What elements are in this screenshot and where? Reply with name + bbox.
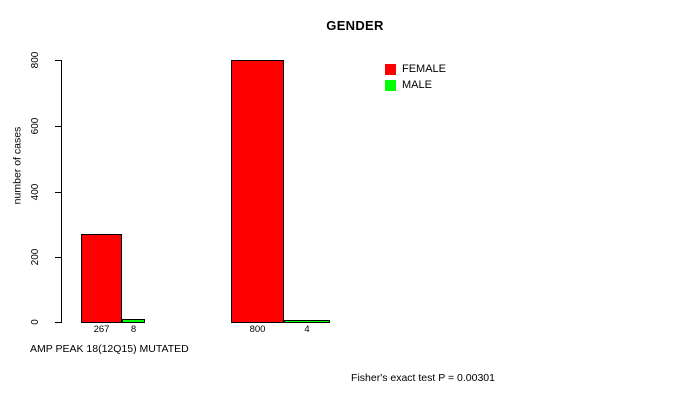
y-tick-label-600-wrap: 600	[28, 106, 44, 146]
y-tick-label-400-wrap: 400	[28, 172, 44, 212]
legend-item-male[interactable]: MALE	[385, 78, 446, 92]
bar-label-group2-female: 800	[231, 325, 284, 335]
y-tick-0	[55, 322, 61, 323]
bar-group1-male[interactable]	[122, 319, 145, 323]
legend-label-male: MALE	[402, 80, 432, 91]
footer-note-wrap: Fisher's exact test P = 0.00301	[0, 372, 690, 384]
bar-group2-female[interactable]	[231, 60, 284, 323]
y-axis-title: number of cases	[13, 116, 24, 216]
y-tick-800	[55, 60, 61, 61]
bar-chart: GENDER 800 600 400 200 0 number of cases…	[0, 0, 690, 400]
bar-label-group1-female: 267	[81, 325, 122, 335]
legend: FEMALE MALE	[385, 62, 446, 94]
y-tick-label-800: 800	[31, 52, 41, 69]
bar-group2-male[interactable]	[284, 320, 330, 323]
legend-swatch-female-icon	[385, 64, 396, 75]
y-tick-label-400: 400	[31, 184, 41, 201]
y-tick-400	[55, 192, 61, 193]
y-tick-label-0: 0	[31, 319, 41, 325]
bar-label-group1-male: 8	[122, 325, 145, 335]
bar-label-group2-male: 4	[284, 325, 330, 335]
legend-label-female: FEMALE	[402, 64, 446, 75]
y-tick-label-800-wrap: 800	[28, 40, 44, 80]
y-tick-200	[55, 257, 61, 258]
y-tick-label-600: 600	[31, 118, 41, 135]
legend-item-female[interactable]: FEMALE	[385, 62, 446, 76]
chart-title: GENDER	[10, 18, 690, 33]
fisher-test-annotation: Fisher's exact test P = 0.00301	[351, 372, 495, 384]
y-tick-label-200: 200	[31, 249, 41, 266]
y-tick-label-200-wrap: 200	[28, 237, 44, 277]
y-tick-600	[55, 126, 61, 127]
x-axis-title: AMP PEAK 18(12Q15) MUTATED	[30, 343, 189, 355]
bar-group1-female[interactable]	[81, 234, 122, 323]
y-tick-label-0-wrap: 0	[28, 302, 44, 342]
y-axis-line	[61, 60, 62, 323]
legend-swatch-male-icon	[385, 80, 396, 91]
